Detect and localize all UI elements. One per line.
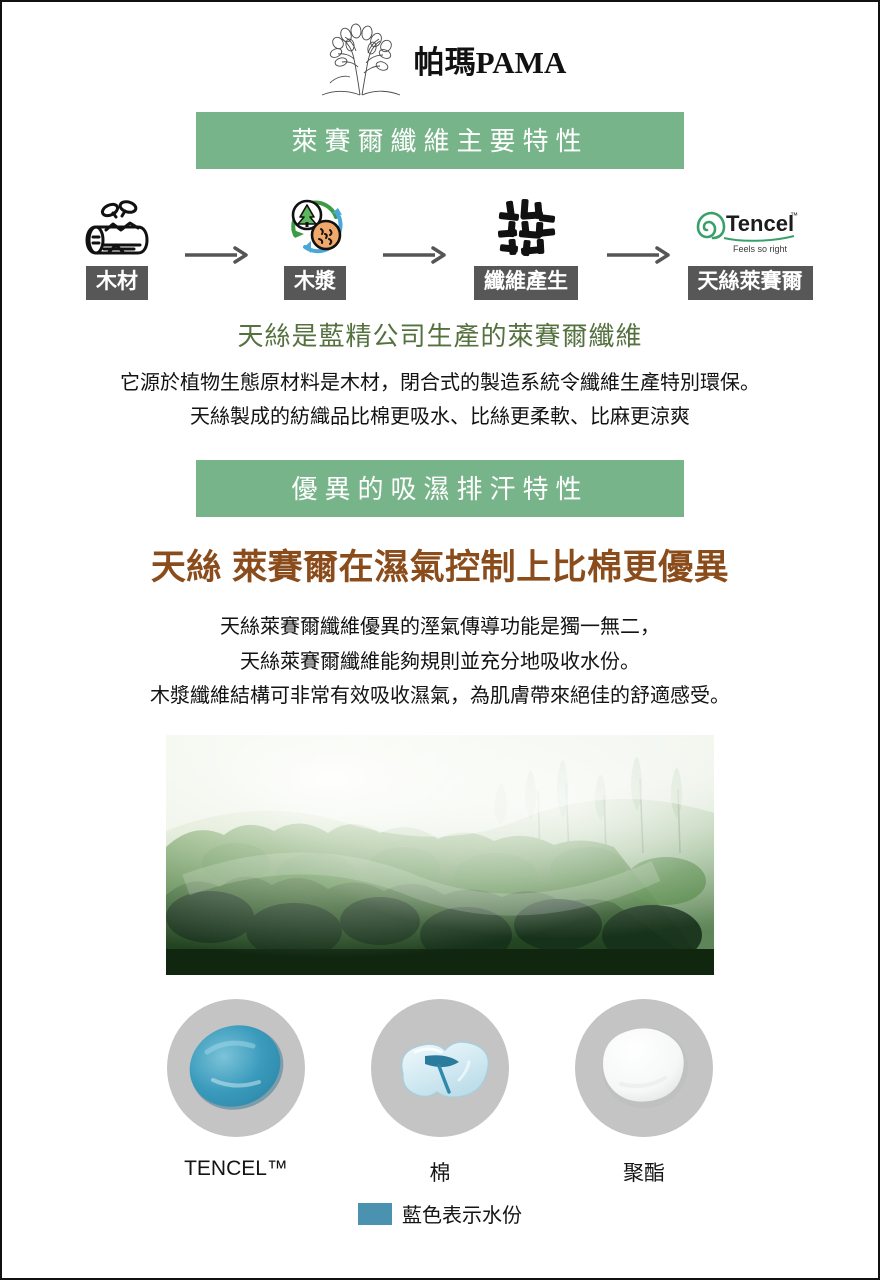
svg-text:™: ™ (790, 211, 798, 220)
moisture-line-1: 天絲萊賽爾纖維優異的溼氣傳導功能是獨一無二， (2, 610, 878, 644)
flow-label-tencel: 天絲萊賽爾 (688, 266, 813, 300)
arrow-right-icon-2 (377, 220, 451, 290)
legend-color-swatch (358, 1203, 392, 1225)
log-wood-icon (80, 191, 154, 259)
moisture-line-2: 天絲萊賽爾纖維能夠規則並充分地吸收水份。 (2, 645, 878, 679)
legend-label: 藍色表示水份 (402, 1199, 522, 1228)
brand-name: 帕瑪PAMA (414, 37, 567, 82)
fiber-label-tencel: TENCEL™ (184, 1157, 288, 1181)
arrow-right-icon (179, 220, 253, 290)
moisture-legend: 藍色表示水份 (2, 1199, 878, 1228)
fiber-item-cotton: 棉 (371, 999, 509, 1187)
intro-line-1: 它源於植物生態原材料是木材，閉合式的製造系統令纖維生產特別環保。 (2, 367, 878, 401)
tencel-fiber-cross-section (167, 999, 305, 1137)
intro-line-2: 天絲製成的紡織品比棉更吸水、比絲更柔軟、比麻更涼爽 (2, 401, 878, 435)
fiber-item-polyester: 聚酯 (575, 999, 713, 1187)
flow-step-pulp: 木漿 (253, 191, 377, 300)
flow-step-wood: 木材 (55, 191, 179, 300)
moisture-paragraph: 天絲萊賽爾纖維優異的溼氣傳導功能是獨一無二， 天絲萊賽爾纖維能夠規則並充分地吸收… (2, 610, 878, 713)
fiber-comparison: TENCEL™ (2, 999, 878, 1187)
brand-logo: 帕瑪PAMA (2, 2, 878, 90)
polyester-fiber-cross-section (575, 999, 713, 1137)
process-flow-diagram: 木材 (2, 191, 878, 300)
woven-fiber-icon (495, 191, 557, 259)
infographic-page: 帕瑪PAMA 萊賽爾纖維主要特性 木材 (2, 2, 878, 1278)
moisture-line-3: 木漿纖維結構可非常有效吸收濕氣，為肌膚帶來絕佳的舒適感受。 (2, 679, 878, 713)
intro-paragraph: 它源於植物生態原材料是木材，閉合式的製造系統令纖維生產特別環保。 天絲製成的紡織… (2, 367, 878, 434)
tree-line-art-icon (314, 21, 410, 97)
section-banner-moisture: 優異的吸濕排汗特性 (196, 460, 684, 517)
section-banner-features: 萊賽爾纖維主要特性 (196, 112, 684, 169)
arrow-right-icon-3 (601, 220, 675, 290)
flow-step-fiber: 纖維產生 (451, 191, 601, 300)
flow-label-wood: 木材 (86, 266, 148, 300)
fiber-item-tencel: TENCEL™ (167, 999, 305, 1187)
rainforest-photo (166, 735, 714, 975)
tencel-tagline: Feels so right (733, 244, 788, 254)
tencel-logo-icon: Tencel ™ Feels so right (694, 191, 806, 259)
tencel-wordmark: Tencel (726, 211, 794, 236)
fiber-label-cotton: 棉 (430, 1157, 451, 1187)
recycle-tree-pulp-icon (281, 191, 349, 259)
moisture-headline: 天絲 萊賽爾在濕氣控制上比棉更優異 (2, 539, 878, 590)
flow-step-tencel: Tencel ™ Feels so right 天絲萊賽爾 (675, 191, 825, 300)
fiber-label-polyester: 聚酯 (623, 1157, 665, 1187)
flow-label-pulp: 木漿 (284, 266, 346, 300)
tencel-tagline-text: 天絲是藍精公司生產的萊賽爾纖維 (2, 316, 878, 353)
flow-label-fiber: 纖維產生 (474, 266, 578, 300)
cotton-fiber-cross-section (371, 999, 509, 1137)
